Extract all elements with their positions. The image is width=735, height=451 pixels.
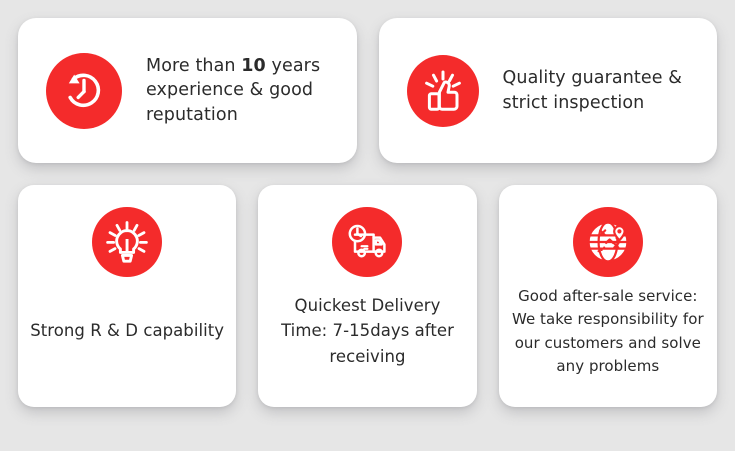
thumbs-up-icon — [407, 55, 479, 127]
feature-text-research: Strong R & D capability — [30, 318, 224, 343]
lightbulb-icon — [92, 207, 162, 277]
delivery-text-wrap: Quickest Delivery Time: 7-15days after r… — [270, 293, 464, 374]
features-board: More than 10 years experience & good rep… — [0, 0, 735, 451]
clock-history-icon — [46, 53, 122, 129]
service-text-wrap: Good after-sale service: We take respons… — [511, 285, 705, 384]
experience-text-bold: 10 — [241, 56, 266, 76]
feature-card-research[interactable]: Strong R & D capability — [18, 185, 236, 407]
features-row-bottom: Strong R & D capability — [18, 185, 717, 407]
experience-text-before: More than — [146, 56, 241, 76]
feature-text-service: Good after-sale service: We take respons… — [511, 285, 705, 378]
delivery-truck-clock-icon — [332, 207, 402, 277]
feature-text-delivery: Quickest Delivery Time: 7-15days after r… — [270, 293, 464, 368]
feature-card-quality[interactable]: Quality guarantee & strict inspection — [379, 18, 718, 163]
feature-card-service[interactable]: Good after-sale service: We take respons… — [499, 185, 717, 407]
globe-map-pin-icon — [573, 207, 643, 277]
feature-card-experience[interactable]: More than 10 years experience & good rep… — [18, 18, 357, 163]
feature-text-quality: Quality guarantee & strict inspection — [503, 66, 704, 115]
research-text-wrap: Strong R & D capability — [30, 318, 224, 349]
feature-card-delivery[interactable]: Quickest Delivery Time: 7-15days after r… — [258, 185, 476, 407]
features-row-top: More than 10 years experience & good rep… — [18, 18, 717, 163]
feature-text-experience: More than 10 years experience & good rep… — [146, 54, 343, 128]
